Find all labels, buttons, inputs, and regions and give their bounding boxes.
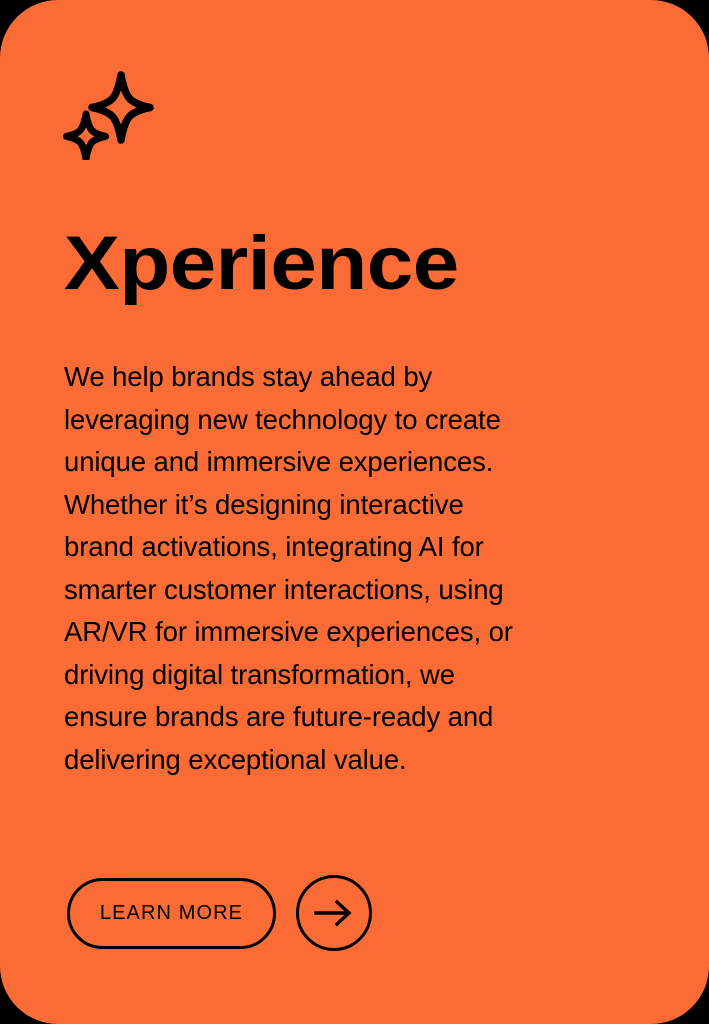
arrow-right-button[interactable] bbox=[296, 875, 372, 951]
body-line: Whether it’s designing interactive bbox=[64, 484, 626, 527]
body-line: ensure brands are future-ready and bbox=[64, 696, 626, 739]
body-line: leveraging new technology to create bbox=[64, 399, 626, 442]
arrow-right-icon bbox=[314, 899, 354, 927]
sparkle-small bbox=[67, 114, 106, 159]
sparkle-icon bbox=[62, 68, 154, 160]
body-line: We help brands stay ahead by bbox=[64, 356, 626, 399]
sparkle-large bbox=[92, 75, 150, 140]
body-line: driving digital transformation, we bbox=[64, 654, 626, 697]
body-line: smarter customer interactions, using bbox=[64, 569, 626, 612]
body-line: AR/VR for immersive experiences, or bbox=[64, 611, 626, 654]
body-line: brand activations, integrating AI for bbox=[64, 526, 626, 569]
learn-more-button[interactable]: LEARN MORE bbox=[67, 878, 276, 949]
body-paragraph: We help brands stay ahead by leveraging … bbox=[64, 356, 626, 781]
page-title: Xperience bbox=[64, 216, 459, 312]
body-line: unique and immersive experiences. bbox=[64, 441, 626, 484]
xperience-card: Xperience We help brands stay ahead by l… bbox=[0, 0, 709, 1024]
body-line: delivering exceptional value. bbox=[64, 739, 626, 782]
cta-group: LEARN MORE bbox=[67, 875, 372, 951]
